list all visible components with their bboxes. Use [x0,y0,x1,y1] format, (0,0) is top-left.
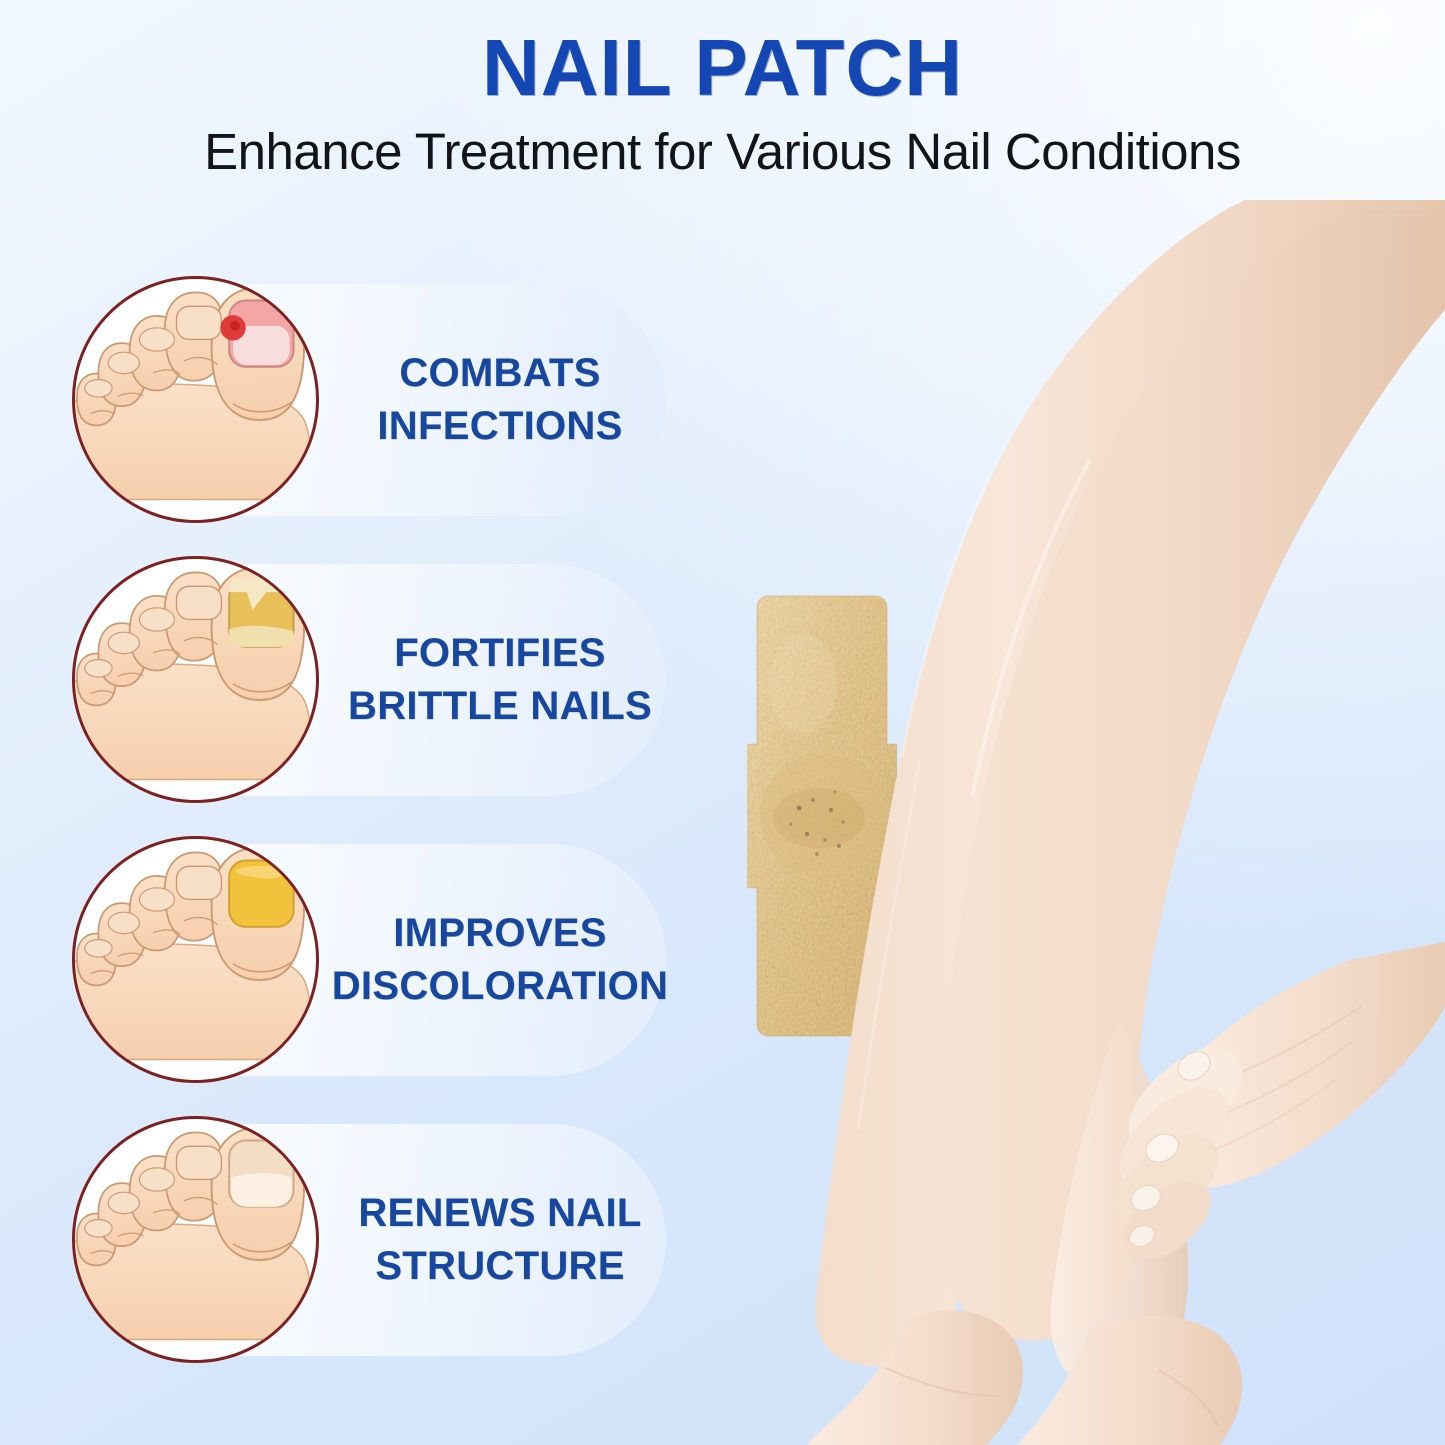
page-title: NAIL PATCH [0,0,1445,110]
feature-label-line2: STRUCTURE [375,1244,624,1288]
feature-label-line1: IMPROVES [393,911,607,955]
feature-label-line2: INFECTIONS [377,404,622,448]
feature-row: IMPROVES DISCOLORATION [0,836,740,1116]
woman-legs-feet-hand-photo [790,200,1445,1445]
feature-label: COMBATS INFECTIONS [330,276,670,523]
feature-label: FORTIFIES BRITTLE NAILS [330,556,670,803]
feature-row: COMBATS INFECTIONS [0,276,740,556]
foot-infected-nail-icon [72,276,319,523]
feature-row: FORTIFIES BRITTLE NAILS [0,556,740,836]
header: NAIL PATCH Enhance Treatment for Various… [0,0,1445,180]
feature-row: RENEWS NAIL STRUCTURE [0,1116,740,1396]
feature-label-line2: DISCOLORATION [332,964,668,1008]
feature-list: COMBATS INFECTIONS [0,276,740,1396]
feature-label-line1: FORTIFIES [394,631,606,675]
feature-label: IMPROVES DISCOLORATION [330,836,670,1083]
foot-healthy-nail-icon [72,1116,319,1363]
feature-label-line1: COMBATS [399,351,600,395]
infographic-canvas: NAIL PATCH Enhance Treatment for Various… [0,0,1445,1445]
feature-label-line1: RENEWS NAIL [358,1191,641,1235]
feature-label-line2: BRITTLE NAILS [348,684,652,728]
page-subtitle: Enhance Treatment for Various Nail Condi… [0,110,1445,180]
feature-label: RENEWS NAIL STRUCTURE [330,1116,670,1363]
foot-discolored-nail-icon [72,836,319,1083]
foot-brittle-nail-icon [72,556,319,803]
